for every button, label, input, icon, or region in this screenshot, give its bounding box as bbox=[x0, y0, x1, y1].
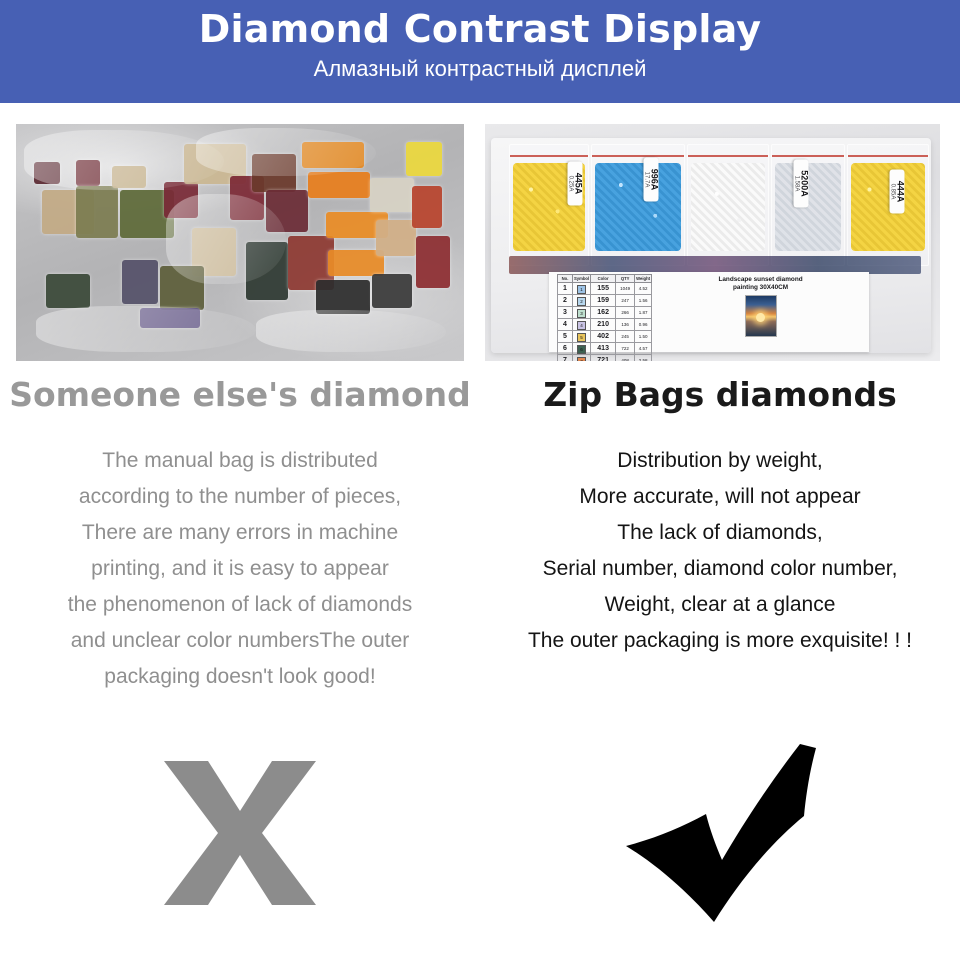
bag-label-weight: 1.58A bbox=[793, 176, 800, 192]
column-body-right: Distribution by weight, More accurate, w… bbox=[480, 443, 960, 659]
col-header-symbol: Symbol bbox=[573, 275, 591, 283]
comparison-column-left: Someone else's diamond The manual bag is… bbox=[0, 103, 480, 960]
symbol-swatch: 6 bbox=[577, 345, 586, 354]
table-row: 1 1 155 1049 4.52 bbox=[558, 283, 652, 295]
symbol-swatch: 3 bbox=[577, 309, 586, 318]
body-line: according to the number of pieces, bbox=[0, 479, 480, 515]
bag-label: 445A 0.25A bbox=[568, 162, 583, 206]
column-body-left: The manual bag is distributed according … bbox=[0, 443, 480, 695]
table-row: 2 2 159 247 1.56 bbox=[558, 295, 652, 307]
table-row: 3 3 162 266 1.87 bbox=[558, 307, 652, 319]
bag-label-code: 5200A bbox=[800, 170, 810, 197]
header-banner: Diamond Contrast Display Алмазный контра… bbox=[0, 0, 960, 103]
painting-caption-line-2: painting 30X40CM bbox=[733, 284, 788, 292]
comparison-columns: Someone else's diamond The manual bag is… bbox=[0, 103, 960, 960]
body-line: Serial number, diamond color number, bbox=[480, 551, 960, 587]
symbol-swatch: 5 bbox=[577, 333, 586, 342]
bag-label-code: 444A bbox=[896, 181, 906, 203]
bag-label-code: 445A bbox=[574, 173, 584, 195]
symbol-swatch: 2 bbox=[577, 297, 586, 306]
table-header-row: No. Symbol Color QTY Weight bbox=[558, 275, 652, 283]
col-header-color: Color bbox=[591, 275, 616, 283]
body-line: packaging doesn't look good! bbox=[0, 659, 480, 695]
product-photo-manual-bag bbox=[16, 124, 464, 361]
body-line: There are many errors in machine bbox=[0, 515, 480, 551]
zip-bag bbox=[591, 144, 685, 266]
zip-bag bbox=[687, 144, 769, 266]
col-header-weight: Weight bbox=[635, 275, 652, 283]
body-line: the phenomenon of lack of diamonds bbox=[0, 587, 480, 623]
bag-label: 5200A 1.58A bbox=[794, 160, 809, 208]
bag-label-weight: 17.7A bbox=[643, 172, 650, 188]
body-line: and unclear color numbersThe outer bbox=[0, 623, 480, 659]
zip-bag-row: 445A 0.25A 996A 17.7A 5200A 1.58A 444A 0… bbox=[509, 144, 927, 266]
bag-label-weight: 0.85A bbox=[889, 184, 896, 200]
page-subtitle-russian: Алмазный контрастный дисплей bbox=[314, 54, 647, 84]
painting-preview: Landscape sunset diamond painting 30X40C… bbox=[652, 272, 869, 352]
table-row: 6 6 413 722 4.57 bbox=[558, 343, 652, 355]
body-line: More accurate, will not appear bbox=[480, 479, 960, 515]
zip-bag bbox=[847, 144, 929, 266]
symbol-swatch: 1 bbox=[577, 285, 586, 294]
diamond-legend-table: No. Symbol Color QTY Weight 1 1 bbox=[557, 274, 652, 361]
bag-label-code: 996A bbox=[650, 169, 660, 191]
bag-label: 996A 17.7A bbox=[644, 158, 659, 202]
table-row: 5 5 402 245 1.50 bbox=[558, 331, 652, 343]
painting-caption-line-1: Landscape sunset diamond bbox=[718, 276, 802, 284]
table-row: 4 4 210 136 0.96 bbox=[558, 319, 652, 331]
product-photo-zip-bags: 445A 0.25A 996A 17.7A 5200A 1.58A 444A 0… bbox=[485, 124, 940, 361]
symbol-swatch: 4 bbox=[577, 321, 586, 330]
column-title-left: Someone else's diamond bbox=[0, 375, 480, 415]
verdict-mark-right bbox=[480, 733, 960, 933]
table-row: 7 7 721 408 2.58 bbox=[558, 355, 652, 362]
body-line: The manual bag is distributed bbox=[0, 443, 480, 479]
body-line: printing, and it is easy to appear bbox=[0, 551, 480, 587]
legend-info-card: No. Symbol Color QTY Weight 1 1 bbox=[549, 272, 869, 352]
body-line: The lack of diamonds, bbox=[480, 515, 960, 551]
cross-mark-icon bbox=[162, 759, 318, 907]
verdict-mark-left bbox=[0, 733, 480, 933]
symbol-swatch: 7 bbox=[577, 357, 586, 361]
packaging-tray: 445A 0.25A 996A 17.7A 5200A 1.58A 444A 0… bbox=[491, 138, 931, 353]
column-title-right: Zip Bags diamonds bbox=[480, 375, 960, 415]
col-header-qty: QTY bbox=[616, 275, 635, 283]
page-title: Diamond Contrast Display bbox=[199, 6, 761, 52]
comparison-column-right: 445A 0.25A 996A 17.7A 5200A 1.58A 444A 0… bbox=[480, 103, 960, 960]
body-line: Distribution by weight, bbox=[480, 443, 960, 479]
painting-thumbnail-icon bbox=[745, 295, 777, 337]
body-line: The outer packaging is more exquisite! !… bbox=[480, 623, 960, 659]
bag-label: 444A 0.85A bbox=[890, 170, 905, 214]
body-line: Weight, clear at a glance bbox=[480, 587, 960, 623]
bag-label-weight: 0.25A bbox=[567, 176, 574, 192]
check-mark-icon bbox=[622, 742, 818, 924]
col-header-no: No. bbox=[558, 275, 573, 283]
